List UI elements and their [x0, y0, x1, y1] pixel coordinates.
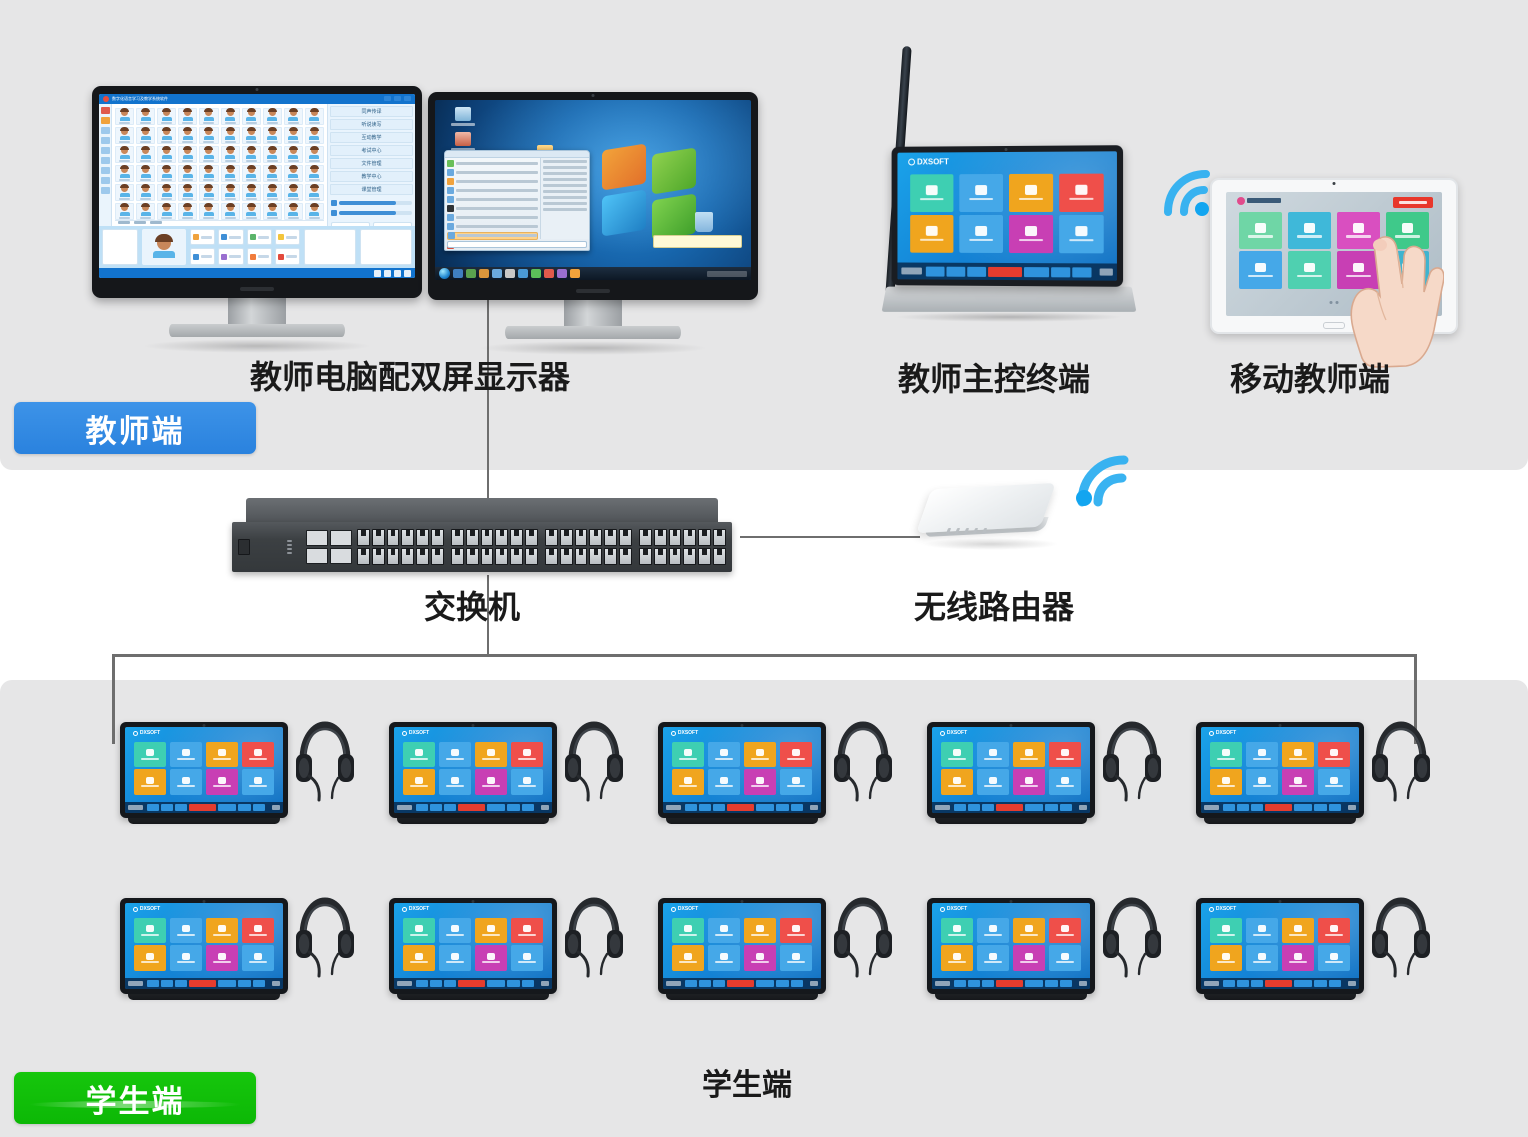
- toolbar-button-home[interactable]: [253, 980, 265, 987]
- app-tile[interactable]: [439, 769, 470, 795]
- student-seat[interactable]: [221, 108, 240, 125]
- student-seat[interactable]: [221, 146, 240, 163]
- rail-icon-file[interactable]: [101, 157, 110, 164]
- toolbar-button-record[interactable]: [996, 980, 1023, 987]
- student-seat[interactable]: [284, 165, 303, 182]
- app-tile[interactable]: [941, 918, 972, 944]
- toolbar-button-prev[interactable]: [416, 980, 428, 987]
- toolbar-button-play[interactable]: [968, 980, 980, 987]
- student-seat[interactable]: [178, 127, 197, 144]
- student-seat[interactable]: [242, 127, 261, 144]
- toolbar-button-home[interactable]: [522, 804, 534, 811]
- toolbar-item[interactable]: [134, 221, 146, 224]
- student-seat[interactable]: [115, 165, 134, 182]
- student-seat[interactable]: [157, 203, 176, 220]
- app-tile[interactable]: [708, 769, 739, 795]
- tile-icon: [756, 777, 764, 784]
- student-seat[interactable]: [284, 146, 303, 163]
- app-tile[interactable]: [672, 769, 703, 795]
- toolbar-button-record[interactable]: [727, 804, 754, 811]
- app-tile[interactable]: [1210, 945, 1241, 971]
- student-seat[interactable]: [284, 108, 303, 125]
- toolbar-button-prev[interactable]: [954, 804, 966, 811]
- toolbar-button-next[interactable]: [444, 804, 456, 811]
- app-tile[interactable]: [134, 769, 165, 795]
- app-tile[interactable]: [439, 742, 470, 768]
- student-seat[interactable]: [284, 127, 303, 144]
- toolbar-button-home[interactable]: [522, 980, 534, 987]
- app-tile[interactable]: [511, 945, 542, 971]
- app-tile[interactable]: [910, 215, 953, 253]
- dock-button-intercom[interactable]: [218, 229, 243, 246]
- toolbar-button-next[interactable]: [713, 804, 725, 811]
- taskbar-item[interactable]: [570, 269, 580, 278]
- toolbar-button-prev[interactable]: [147, 980, 159, 987]
- app-tile[interactable]: [959, 174, 1002, 212]
- toolbar-button-next[interactable]: [967, 266, 986, 276]
- app-tile[interactable]: [977, 918, 1008, 944]
- rail-icon-chat[interactable]: [101, 147, 110, 154]
- student-seat[interactable]: [242, 108, 261, 125]
- toolbar-button-settings[interactable]: [1314, 980, 1326, 987]
- app-tile[interactable]: [1013, 769, 1044, 795]
- toolbar-button-record[interactable]: [988, 266, 1022, 276]
- toolbar-button-next[interactable]: [982, 804, 994, 811]
- toolbar-button-settings[interactable]: [507, 980, 519, 987]
- app-tile[interactable]: [1318, 769, 1349, 795]
- toolbar-button-prev[interactable]: [954, 980, 966, 987]
- maximize-button[interactable]: [394, 96, 401, 101]
- toolbar-button-record[interactable]: [189, 980, 216, 987]
- toolbar-button-play[interactable]: [430, 980, 442, 987]
- app-tile[interactable]: [170, 918, 201, 944]
- student-seat[interactable]: [136, 108, 155, 125]
- student-seat[interactable]: [178, 146, 197, 163]
- app-tile[interactable]: [744, 769, 775, 795]
- app-tile[interactable]: [1049, 769, 1080, 795]
- app-tile[interactable]: [780, 742, 811, 768]
- student-seat[interactable]: [199, 146, 218, 163]
- app-tile[interactable]: [910, 174, 953, 212]
- home-icon[interactable]: [374, 270, 381, 277]
- student-seat[interactable]: [136, 146, 155, 163]
- grid-icon[interactable]: [384, 270, 391, 277]
- app-tile[interactable]: [1386, 251, 1429, 288]
- app-tile[interactable]: [1337, 251, 1380, 288]
- toolbar-button-settings[interactable]: [1045, 804, 1057, 811]
- toolbar-button-play[interactable]: [968, 804, 980, 811]
- app-tile[interactable]: [403, 918, 434, 944]
- rail-icon-monitor[interactable]: [101, 137, 110, 144]
- minimize-button[interactable]: [384, 96, 391, 101]
- toolbar-button-record[interactable]: [458, 804, 485, 811]
- app-tile[interactable]: [1210, 742, 1241, 768]
- rail-icon-test[interactable]: [101, 167, 110, 174]
- dock-button-end-class[interactable]: [275, 248, 300, 265]
- dock-button-student-demo[interactable]: [218, 248, 243, 265]
- app-tile[interactable]: [242, 918, 273, 944]
- app-tile[interactable]: [170, 742, 201, 768]
- toolbar-button-prev[interactable]: [416, 804, 428, 811]
- taskbar-item[interactable]: [453, 269, 463, 278]
- student-seat[interactable]: [157, 165, 176, 182]
- app-tile[interactable]: [941, 742, 972, 768]
- caption-master-terminal: 教师主控终端: [898, 354, 1090, 400]
- start-menu-item[interactable]: [447, 223, 538, 230]
- taskbar-item[interactable]: [518, 269, 528, 278]
- app-tile[interactable]: [1246, 945, 1277, 971]
- tile-label: [787, 758, 805, 760]
- system-tray[interactable]: [707, 271, 747, 277]
- app-tile[interactable]: [511, 769, 542, 795]
- start-menu-search-input[interactable]: [447, 241, 586, 249]
- app-tile[interactable]: [1318, 742, 1349, 768]
- app-tile[interactable]: [1049, 742, 1080, 768]
- app-tile[interactable]: [1049, 945, 1080, 971]
- app-tile[interactable]: [1013, 945, 1044, 971]
- toolbar-button-home[interactable]: [791, 804, 803, 811]
- function-menu-item[interactable]: 互动教学: [330, 132, 413, 143]
- toolbar-button-play[interactable]: [430, 804, 442, 811]
- app-tile[interactable]: [1282, 769, 1313, 795]
- student-seat[interactable]: [305, 184, 324, 201]
- student-seat[interactable]: [136, 165, 155, 182]
- student-seat[interactable]: [284, 184, 303, 201]
- toolbar-button-prev[interactable]: [147, 804, 159, 811]
- app-tile[interactable]: [206, 769, 237, 795]
- tile-icon: [1353, 263, 1364, 273]
- fullscreen-icon[interactable]: [394, 270, 401, 277]
- app-tile[interactable]: [242, 742, 273, 768]
- function-menu-item[interactable]: 教学中心: [330, 171, 413, 182]
- student-seat[interactable]: [115, 184, 134, 201]
- student-seat[interactable]: [115, 146, 134, 163]
- brand-name: DXSOFT: [409, 730, 429, 736]
- student-seat[interactable]: [115, 108, 134, 125]
- student-seat[interactable]: [221, 165, 240, 182]
- dock-button-screen-broadcast[interactable]: [190, 248, 215, 265]
- start-menu-item[interactable]: [447, 169, 538, 176]
- app-tile[interactable]: [780, 769, 811, 795]
- taskbar-item[interactable]: [505, 269, 515, 278]
- start-menu-item[interactable]: [447, 214, 538, 221]
- start-menu-item[interactable]: [447, 160, 538, 167]
- student-seat[interactable]: [136, 184, 155, 201]
- student-seat[interactable]: [157, 184, 176, 201]
- toolbar-button-play[interactable]: [161, 804, 173, 811]
- start-menu-item[interactable]: [447, 205, 538, 212]
- app-tile[interactable]: [1059, 215, 1103, 254]
- toolbar-button-prev[interactable]: [685, 804, 697, 811]
- wireless-router: [915, 480, 1065, 560]
- toolbar-button-play[interactable]: [161, 980, 173, 987]
- app-tile[interactable]: [1246, 918, 1277, 944]
- student-seat[interactable]: [242, 165, 261, 182]
- function-menu-item[interactable]: 听说读写: [330, 119, 413, 130]
- app-tile[interactable]: [511, 918, 542, 944]
- toolbar-button-next[interactable]: [713, 980, 725, 987]
- app-tile[interactable]: [1013, 742, 1044, 768]
- taskbar-item[interactable]: [466, 269, 476, 278]
- app-tile[interactable]: [242, 769, 273, 795]
- student-seat[interactable]: [305, 203, 324, 220]
- brand-name: DXSOFT: [678, 730, 698, 736]
- student-seat[interactable]: [157, 108, 176, 125]
- toolbar-button-prev[interactable]: [1223, 804, 1235, 811]
- speaker-volume-slider[interactable]: [331, 200, 412, 206]
- app-tile[interactable]: [977, 742, 1008, 768]
- student-seat[interactable]: [157, 146, 176, 163]
- app-tile[interactable]: [744, 742, 775, 768]
- recycle-bin-icon[interactable]: [695, 212, 713, 232]
- app-tile[interactable]: [170, 769, 201, 795]
- student-seat[interactable]: [199, 203, 218, 220]
- windows-desktop: [435, 100, 751, 280]
- app-tile[interactable]: [1337, 212, 1380, 249]
- toolbar-label: [128, 981, 142, 985]
- app-tile[interactable]: [1288, 212, 1331, 249]
- app-tile[interactable]: [672, 945, 703, 971]
- dock-button-broadcast-audio[interactable]: [190, 229, 215, 246]
- app-tile[interactable]: [708, 918, 739, 944]
- app-tile[interactable]: [1049, 918, 1080, 944]
- student-seat[interactable]: [242, 184, 261, 201]
- student-seat[interactable]: [263, 203, 282, 220]
- toolbar-button-settings[interactable]: [1051, 267, 1070, 277]
- rail-icon-settings[interactable]: [101, 177, 110, 184]
- dock-button-monitor-student[interactable]: [247, 229, 272, 246]
- app-tile[interactable]: [744, 945, 775, 971]
- toolbar-button-home[interactable]: [1329, 804, 1341, 811]
- toolbar-button-settings[interactable]: [776, 804, 788, 811]
- student-seat[interactable]: [199, 127, 218, 144]
- student-seat[interactable]: [242, 146, 261, 163]
- app-tile[interactable]: [744, 918, 775, 944]
- start-button[interactable]: [439, 268, 450, 279]
- toolbar-button-prev[interactable]: [1223, 980, 1235, 987]
- student-seat[interactable]: [178, 203, 197, 220]
- student-seat[interactable]: [284, 203, 303, 220]
- student-seat[interactable]: [115, 203, 134, 220]
- student-seat[interactable]: [263, 146, 282, 163]
- student-seat[interactable]: [136, 127, 155, 144]
- tile-icon: [1304, 223, 1315, 233]
- app-tile[interactable]: [1239, 212, 1282, 249]
- start-menu-item-selected[interactable]: [447, 232, 538, 240]
- app-tile[interactable]: [206, 918, 237, 944]
- desktop-icon-computer[interactable]: [451, 107, 475, 126]
- toolbar-button-settings[interactable]: [238, 804, 250, 811]
- rail-icon-help[interactable]: [101, 187, 110, 194]
- home-button[interactable]: [1323, 322, 1345, 329]
- app-tile[interactable]: [170, 945, 201, 971]
- student-seat[interactable]: [263, 108, 282, 125]
- start-menu-item[interactable]: [447, 187, 538, 194]
- toolbar-button-settings[interactable]: [776, 980, 788, 987]
- toolbar-button-settings[interactable]: [507, 804, 519, 811]
- snapshot-icon[interactable]: [404, 270, 411, 277]
- student-seat[interactable]: [221, 184, 240, 201]
- app-tile[interactable]: [959, 215, 1002, 253]
- app-tile[interactable]: [1282, 742, 1313, 768]
- toolbar-button-play[interactable]: [699, 980, 711, 987]
- function-menu-item[interactable]: 同声传译: [330, 106, 413, 117]
- toolbar-button-record[interactable]: [189, 804, 216, 811]
- toolbar-button-prev[interactable]: [926, 266, 945, 276]
- start-menu[interactable]: [444, 150, 589, 251]
- app-tile[interactable]: [1210, 918, 1241, 944]
- app-tile[interactable]: [1282, 918, 1313, 944]
- app-tile[interactable]: [1386, 212, 1429, 249]
- toolbar-button-play[interactable]: [1237, 804, 1249, 811]
- student-seat[interactable]: [178, 108, 197, 125]
- app-tile[interactable]: [206, 945, 237, 971]
- app-tile[interactable]: [708, 742, 739, 768]
- app-tile[interactable]: [672, 918, 703, 944]
- dock-panel[interactable]: [102, 229, 138, 265]
- toolbar-button-settings[interactable]: [238, 980, 250, 987]
- toolbar-button-next[interactable]: [444, 980, 456, 987]
- toolbar-button-prev[interactable]: [685, 980, 697, 987]
- app-tile[interactable]: [1288, 251, 1331, 288]
- app-tile[interactable]: [1318, 918, 1349, 944]
- dock-button-raise-hand[interactable]: [275, 229, 300, 246]
- app-tile[interactable]: [941, 769, 972, 795]
- student-seat[interactable]: [221, 203, 240, 220]
- function-menu-item[interactable]: 考试中心: [330, 145, 413, 156]
- app-tile[interactable]: [1282, 945, 1313, 971]
- app-tile[interactable]: [475, 769, 506, 795]
- app-tile[interactable]: [1318, 945, 1349, 971]
- student-seat[interactable]: [263, 127, 282, 144]
- taskbar-item[interactable]: [557, 269, 567, 278]
- app-tile[interactable]: [1009, 215, 1053, 254]
- app-tile[interactable]: [1059, 173, 1103, 212]
- app-tile[interactable]: [242, 945, 273, 971]
- toolbar-button-record[interactable]: [1265, 980, 1292, 987]
- student-seat[interactable]: [136, 203, 155, 220]
- student-seat[interactable]: [305, 146, 324, 163]
- app-tile[interactable]: [672, 742, 703, 768]
- toolbar-clock: [272, 981, 280, 985]
- toolbar-button-home[interactable]: [1329, 980, 1341, 987]
- student-seat[interactable]: [242, 203, 261, 220]
- app-tile[interactable]: [206, 742, 237, 768]
- app-tile[interactable]: [941, 945, 972, 971]
- app-tile[interactable]: [1009, 174, 1053, 213]
- desktop-icon-shortcut[interactable]: [451, 132, 475, 151]
- rail-icon-record[interactable]: [101, 107, 110, 114]
- app-tile[interactable]: [780, 945, 811, 971]
- app-tile[interactable]: [977, 945, 1008, 971]
- app-tile[interactable]: [134, 918, 165, 944]
- app-tile[interactable]: [977, 769, 1008, 795]
- student-seat[interactable]: [178, 165, 197, 182]
- app-tile[interactable]: [1246, 769, 1277, 795]
- tile-icon: [451, 777, 459, 784]
- toolbar-button-home[interactable]: [1060, 980, 1072, 987]
- app-tile[interactable]: [439, 918, 470, 944]
- toolbar-button-record[interactable]: [996, 804, 1023, 811]
- toolbar-button-record[interactable]: [727, 980, 754, 987]
- student-seat[interactable]: [178, 184, 197, 201]
- start-menu-item[interactable]: [447, 178, 538, 185]
- toolbar-button-home[interactable]: [1072, 267, 1091, 277]
- app-tile[interactable]: [403, 742, 434, 768]
- student-seat[interactable]: [157, 127, 176, 144]
- app-tile[interactable]: [475, 742, 506, 768]
- tile-icon: [1025, 777, 1033, 784]
- app-tile[interactable]: [708, 945, 739, 971]
- taskbar-item[interactable]: [544, 269, 554, 278]
- app-tile[interactable]: [134, 742, 165, 768]
- app-tile[interactable]: [511, 742, 542, 768]
- dock-button-black-screen[interactable]: [247, 248, 272, 265]
- student-seat[interactable]: [199, 184, 218, 201]
- function-menu-item[interactable]: 课堂管理: [330, 184, 413, 195]
- toolbar-button-next[interactable]: [175, 980, 187, 987]
- start-class-button[interactable]: [1393, 197, 1433, 208]
- function-menu-item[interactable]: 文件管理: [330, 158, 413, 169]
- student-seat[interactable]: [221, 127, 240, 144]
- toolbar-button-home[interactable]: [1060, 804, 1072, 811]
- toolbar-button-home[interactable]: [791, 980, 803, 987]
- app-tile[interactable]: [1239, 251, 1282, 288]
- close-button[interactable]: [404, 96, 411, 101]
- rail-icon-layout[interactable]: [101, 117, 110, 124]
- app-tile[interactable]: [780, 918, 811, 944]
- student-seat[interactable]: [115, 127, 134, 144]
- toolbar-button-next[interactable]: [1251, 804, 1263, 811]
- mic-volume-slider[interactable]: [331, 210, 412, 216]
- taskbar-item[interactable]: [479, 269, 489, 278]
- toolbar-button-next[interactable]: [1251, 980, 1263, 987]
- taskbar-item[interactable]: [531, 269, 541, 278]
- app-tile[interactable]: [439, 945, 470, 971]
- app-tile[interactable]: [134, 945, 165, 971]
- rail-icon-group[interactable]: [101, 127, 110, 134]
- student-seat[interactable]: [263, 184, 282, 201]
- student-seat[interactable]: [199, 165, 218, 182]
- app-tile[interactable]: [1210, 769, 1241, 795]
- toolbar-button-home[interactable]: [253, 804, 265, 811]
- student-seat[interactable]: [305, 108, 324, 125]
- toolbar-item[interactable]: [118, 221, 130, 224]
- start-menu-item[interactable]: [447, 196, 538, 203]
- taskbar-item[interactable]: [492, 269, 502, 278]
- toolbar-button-record[interactable]: [458, 980, 485, 987]
- toolbar-button-settings[interactable]: [1314, 804, 1326, 811]
- app-tile[interactable]: [1246, 742, 1277, 768]
- app-tile[interactable]: [403, 769, 434, 795]
- toolbar-button-next[interactable]: [982, 980, 994, 987]
- toolbar-item[interactable]: [150, 221, 162, 224]
- toolbar-button-settings[interactable]: [1045, 980, 1057, 987]
- app-tile[interactable]: [475, 918, 506, 944]
- toolbar-button-record[interactable]: [1265, 804, 1292, 811]
- app-tile[interactable]: [403, 945, 434, 971]
- app-tile[interactable]: [1013, 918, 1044, 944]
- app-tile[interactable]: [475, 945, 506, 971]
- toolbar-button-play[interactable]: [946, 266, 965, 276]
- toolbar-button-play[interactable]: [1237, 980, 1249, 987]
- student-seat[interactable]: [263, 165, 282, 182]
- toolbar-button-play[interactable]: [699, 804, 711, 811]
- student-seat[interactable]: [305, 165, 324, 182]
- student-seat[interactable]: [199, 108, 218, 125]
- toolbar-button-next[interactable]: [175, 804, 187, 811]
- student-seat[interactable]: [305, 127, 324, 144]
